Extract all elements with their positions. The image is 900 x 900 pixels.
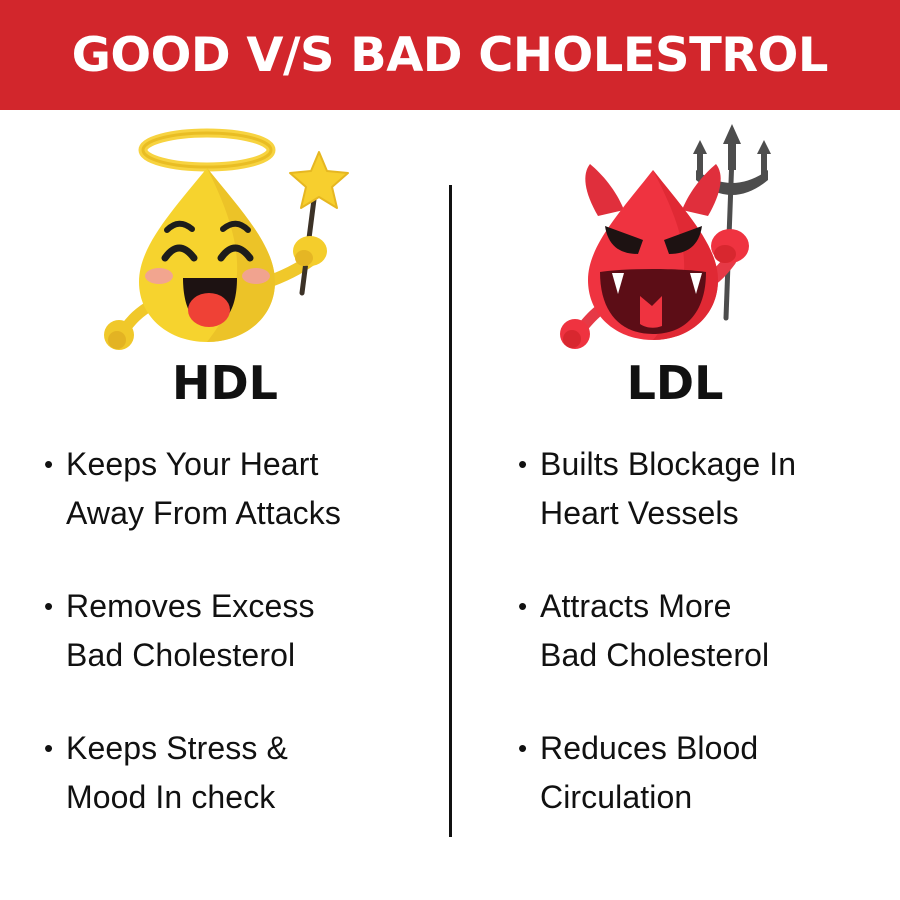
- bullet-marker-icon: •: [518, 440, 540, 489]
- list-item: • Reduces Blood Circulation: [518, 724, 900, 822]
- list-item: • Builts Blockage In Heart Vessels: [518, 440, 900, 538]
- label-hdl: HDL: [0, 360, 450, 406]
- bullet-text: Reduces Blood Circulation: [540, 724, 900, 822]
- header-banner: GOOD V/S BAD CHOLESTROL: [0, 0, 900, 110]
- list-item: • Attracts More Bad Cholesterol: [518, 582, 900, 680]
- bullet-text: Attracts More Bad Cholesterol: [540, 582, 900, 680]
- angel-cholesterol-droplet-icon: [0, 110, 450, 360]
- bullet-marker-icon: •: [518, 582, 540, 631]
- bullet-list-ldl: • Builts Blockage In Heart Vessels • Att…: [0, 440, 900, 866]
- column-ldl: LDL • Builts Blockage In Heart Vessels •…: [450, 110, 900, 900]
- page-title: GOOD V/S BAD CHOLESTROL: [72, 32, 828, 79]
- label-ldl: LDL: [450, 360, 900, 406]
- comparison-content: HDL • Keeps Your Heart Away From Attacks…: [0, 110, 900, 900]
- bullet-text: Builts Blockage In Heart Vessels: [540, 440, 900, 538]
- bullet-marker-icon: •: [518, 724, 540, 773]
- devil-cholesterol-droplet-icon: [450, 110, 900, 360]
